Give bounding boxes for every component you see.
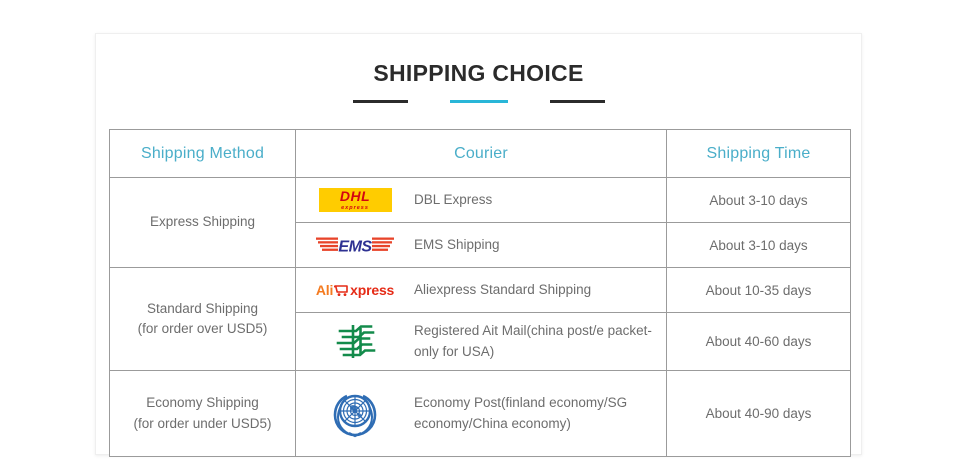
logo-box-united-nations xyxy=(296,385,414,443)
table-head: Shipping Method Courier Shipping Time xyxy=(110,130,851,178)
logo-box-dhl: DHL express xyxy=(296,184,414,216)
courier-name-united-nations: Economy Post(finland economy/SG economy/… xyxy=(414,393,666,435)
united-nations-logo xyxy=(328,389,382,439)
method-label-line1: Express Shipping xyxy=(150,214,255,229)
page-title: SHIPPING CHOICE xyxy=(96,60,861,87)
method-cell-standard: Standard Shipping (for order over USD5) xyxy=(110,268,296,371)
time-cell-aliexpress: About 10-35 days xyxy=(667,268,851,313)
time-cell-china-post: About 40-60 days xyxy=(667,313,851,371)
table-body: Express Shipping DHL express DB xyxy=(110,178,851,457)
header-shipping-time: Shipping Time xyxy=(667,130,851,178)
china-post-logo xyxy=(334,322,376,362)
aliexpress-logo-text: Ali xyxy=(316,283,333,297)
header-shipping-method: Shipping Method xyxy=(110,130,296,178)
courier-name-ems: EMS Shipping xyxy=(414,235,508,256)
table-row: Express Shipping DHL express DB xyxy=(110,178,851,223)
header-courier: Courier xyxy=(296,130,667,178)
time-cell-ems: About 3-10 days xyxy=(667,223,851,268)
svg-text:EMS: EMS xyxy=(338,238,372,255)
time-cell-united-nations: About 40-90 days xyxy=(667,371,851,457)
shipping-table: Shipping Method Courier Shipping Time Ex… xyxy=(109,129,851,457)
dhl-logo-subtext: express xyxy=(319,205,392,211)
courier-cell-united-nations: Economy Post(finland economy/SG economy/… xyxy=(296,371,667,457)
title-rule-right xyxy=(550,100,605,103)
aliexpress-logo: Ali xpress xyxy=(316,283,394,297)
courier-cell-dhl: DHL express DBL Express xyxy=(296,178,667,223)
table-row: Standard Shipping (for order over USD5) … xyxy=(110,268,851,313)
courier-cell-aliexpress: Ali xpress xyxy=(296,268,667,313)
method-label-line1: Economy Shipping xyxy=(146,395,259,410)
courier-name-dhl: DBL Express xyxy=(414,190,500,211)
method-cell-express: Express Shipping xyxy=(110,178,296,268)
title-underline-group xyxy=(96,100,861,103)
page-root: SHIPPING CHOICE Shipping Method Courier xyxy=(0,0,960,471)
dhl-logo-text: DHL xyxy=(319,189,392,204)
method-label-line1: Standard Shipping xyxy=(147,301,258,316)
courier-name-aliexpress: Aliexpress Standard Shipping xyxy=(414,280,599,301)
title-block: SHIPPING CHOICE xyxy=(96,34,861,103)
method-label-line2: (for order under USD5) xyxy=(110,414,295,434)
aliexpress-logo-subtext: xpress xyxy=(350,283,394,297)
courier-cell-ems: EMS EMS Shipping xyxy=(296,223,667,268)
dhl-logo: DHL express xyxy=(319,188,392,212)
table-row: Economy Shipping (for order under USD5) xyxy=(110,371,851,457)
method-cell-economy: Economy Shipping (for order under USD5) xyxy=(110,371,296,457)
title-rule-left xyxy=(353,100,408,103)
title-rule-center-accent xyxy=(450,100,508,103)
time-cell-dhl: About 3-10 days xyxy=(667,178,851,223)
shipping-choice-card: SHIPPING CHOICE Shipping Method Courier xyxy=(95,33,862,455)
table-header-row: Shipping Method Courier Shipping Time xyxy=(110,130,851,178)
courier-cell-china-post: Registered Ait Mail(china post/e packet-… xyxy=(296,313,667,371)
method-label-line2: (for order over USD5) xyxy=(110,319,295,339)
logo-box-china-post xyxy=(296,318,414,366)
courier-name-china-post: Registered Ait Mail(china post/e packet-… xyxy=(414,321,666,363)
logo-box-ems: EMS xyxy=(296,229,414,261)
logo-box-aliexpress: Ali xpress xyxy=(296,279,414,301)
ems-logo: EMS xyxy=(316,233,394,257)
shopping-cart-icon xyxy=(334,284,349,297)
shipping-table-wrap: Shipping Method Courier Shipping Time Ex… xyxy=(109,129,848,457)
